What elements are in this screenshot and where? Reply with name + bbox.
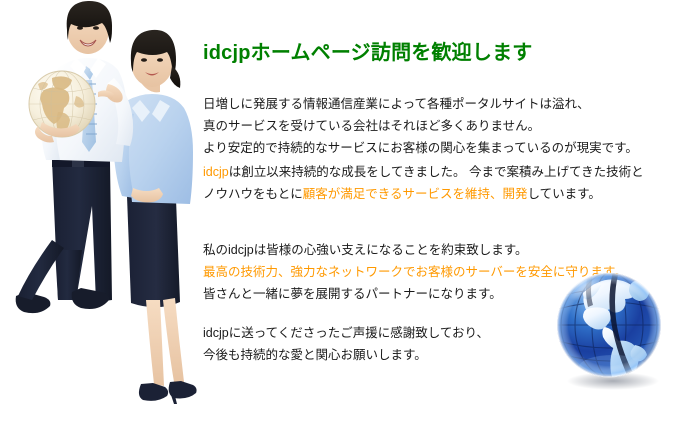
paragraph-2-line-1: idcjpは創立以来持続的な成長をしてきました。 今まで案積み上げてきた技術と	[203, 161, 644, 183]
paragraph-1-line-3: より安定的で持続的なサービスにお客様の関心を集まっているのが現実です。	[203, 137, 638, 159]
business-people-illustration	[0, 0, 200, 431]
text-segment: しています。	[528, 187, 601, 201]
paragraph-4: idcjpに送ってくださったご声援に感謝致しており、 今後も持続的な愛と関心お願…	[203, 322, 489, 366]
paragraph-4-line-1: idcjpに送ってくださったご声援に感謝致しており、	[203, 322, 489, 344]
brand-name-accent: idcjp	[203, 165, 229, 179]
text-segment: より安定的で持続的なサービスにお客様の関心を集まっているのが現実です。	[203, 141, 638, 155]
paragraph-2-line-2: ノウハウをもとに顧客が満足できるサービスを維持、開発しています。	[203, 183, 644, 205]
text-segment: 私のidcjpは皆様の心強い支えになることを約束致します。	[203, 243, 527, 257]
page-title: idcjpホームページ訪問を歓迎します	[203, 36, 532, 65]
paragraph-1-line-2: 真のサービスを受けている会社はそれほど多くありません。	[203, 115, 638, 137]
text-segment: 皆さんと一緒に夢を展開するパートナーになります。	[203, 287, 502, 301]
paragraph-4-line-2: 今後も持続的な愛と関心お願いします。	[203, 344, 489, 366]
text-segment: は創立以来持続的な成長をしてきました。 今まで案積み上げてきた技術と	[229, 165, 644, 179]
paragraph-3-line-1: 私のidcjpは皆様の心強い支えになることを約束致します。	[203, 239, 627, 261]
paragraph-1-line-1: 日増しに発展する情報通信産業によって各種ポータルサイトは溢れ、	[203, 93, 638, 115]
highlight-segment: 顧客が満足できるサービスを維持、開発	[303, 187, 528, 201]
blue-globe-graphic	[551, 269, 671, 391]
text-segment: 日増しに発展する情報通信産業によって各種ポータルサイトは溢れ、	[203, 97, 590, 111]
text-segment: 真のサービスを受けている会社はそれほど多くありません。	[203, 119, 540, 133]
business-people-photo	[0, 0, 200, 431]
blue-globe-illustration	[551, 269, 671, 391]
text-segment: 今後も持続的な愛と関心お願いします。	[203, 348, 427, 362]
text-segment: ノウハウをもとに	[203, 187, 303, 201]
paragraph-2: idcjpは創立以来持続的な成長をしてきました。 今まで案積み上げてきた技術と …	[203, 161, 644, 205]
paragraph-1: 日増しに発展する情報通信産業によって各種ポータルサイトは溢れ、 真のサービスを受…	[203, 93, 638, 159]
text-segment: idcjpに送ってくださったご声援に感謝致しており、	[203, 326, 489, 340]
promo-banner: idcjpホームページ訪問を歓迎します 日増しに発展する情報通信産業によって各種…	[0, 0, 680, 431]
